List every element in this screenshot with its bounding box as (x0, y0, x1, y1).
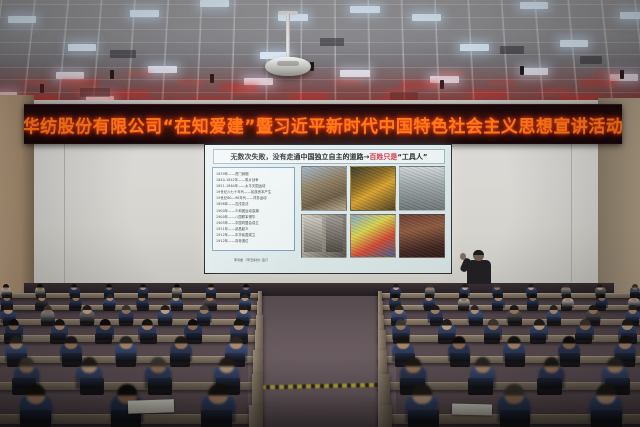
audience-head (452, 336, 465, 349)
slide-photo-4-portrait (304, 218, 322, 253)
desk-paper (452, 403, 492, 415)
audience-head (607, 357, 623, 373)
audience-head (243, 284, 249, 290)
presenter (466, 250, 492, 284)
audience-member (538, 357, 565, 389)
slide-photo-5 (350, 214, 396, 259)
audience-head (563, 336, 576, 349)
audience-head (54, 319, 65, 330)
ceiling-light-panel (130, 10, 159, 17)
audience-member (561, 294, 573, 308)
audience-head (161, 305, 170, 314)
audience-member (530, 319, 548, 340)
audience-head (563, 284, 569, 290)
audience-head (120, 336, 133, 349)
slide-timeline-item: 1912年——清帝退位 (216, 238, 292, 244)
ceiling (0, 0, 640, 108)
audience-member (170, 336, 192, 362)
audience-head (393, 284, 399, 290)
presenter-body (467, 260, 491, 284)
projection-screen: 无数次失败，没有走通中国独立自主的道路→ 百姓只是 “工具人” 1839年——虎… (205, 145, 451, 273)
audience-member (138, 319, 156, 340)
audience-head (549, 305, 558, 314)
audience-member (492, 294, 504, 308)
audience-head (122, 305, 131, 314)
audience-member (467, 305, 482, 322)
ceiling-grid-line-h (0, 54, 640, 55)
audience-head (394, 305, 403, 314)
ceiling-light-panel (68, 44, 96, 51)
ceiling-grid-line-h (0, 29, 640, 30)
presenter-hair (473, 250, 484, 255)
audience-member (158, 305, 173, 322)
audience-head (65, 336, 78, 349)
slide-photo-caption: 李鸿章 《辛丑条约》签订 (222, 258, 280, 262)
audience-head (628, 305, 637, 314)
audience-head (462, 284, 468, 290)
slide-timeline-list: 1839年——虎门销烟1840-1842年——鸦片战争1851-1864年——太… (212, 167, 295, 251)
audience-head (100, 319, 111, 330)
audience-head (618, 336, 631, 349)
audience-member (76, 357, 103, 389)
led-banner: 华纺股份有限公司“在知爱建”暨习近平新时代中国特色社会主义思想宣讲活动 (24, 104, 622, 144)
ceiling-vent (500, 46, 524, 54)
audience-head (504, 384, 524, 404)
ceiling-light-panel (278, 14, 308, 21)
audience-head (43, 305, 52, 314)
audience-member (497, 384, 531, 423)
audience-member (469, 357, 496, 389)
audience-head (406, 357, 422, 373)
presenter-hand (460, 253, 466, 260)
desk-end-panel (252, 374, 264, 406)
desk-end-panel (378, 350, 387, 376)
audience-head (200, 305, 209, 314)
audience-member (484, 319, 502, 340)
audience-head (150, 357, 166, 373)
audience-head (528, 284, 534, 290)
ceiling-light-panel (200, 0, 229, 7)
desk-end-panel (255, 330, 263, 351)
audience-member (79, 305, 94, 322)
audience-head (494, 284, 500, 290)
audience-head (597, 384, 617, 404)
audience-head (230, 336, 243, 349)
audience-head (8, 319, 19, 330)
audience-member (96, 319, 114, 340)
audience-head (427, 284, 433, 290)
audience-head (209, 384, 229, 404)
audience-head (188, 319, 199, 330)
audience-member (135, 294, 147, 308)
wall-seam-right (571, 142, 572, 282)
slide-photo-4 (301, 214, 347, 259)
audience-head (508, 336, 521, 349)
audience-head (544, 357, 560, 373)
audience-head (431, 305, 440, 314)
banner-text: 华纺股份有限公司“在知爱建”暨习近平新时代中国特色社会主义思想宣讲活动 (24, 105, 622, 143)
audience-head (632, 284, 638, 290)
audience-member (503, 336, 525, 362)
audience-head (175, 336, 188, 349)
ceiling-vent (110, 50, 136, 58)
slide-photo-3 (399, 166, 445, 211)
audience-member (104, 294, 116, 308)
center-aisle (248, 296, 396, 427)
audience-member (589, 384, 623, 423)
audience-member (527, 294, 539, 308)
audience-head (219, 357, 235, 373)
desk-end-panel (253, 350, 262, 376)
desk-end-panel (249, 405, 263, 427)
slide-title-part1: 无数次失败，没有走通中国独立自主的道路→ (230, 152, 369, 162)
wall-seam-left (64, 142, 65, 292)
audience-head (622, 319, 633, 330)
desk-end-panel (378, 374, 390, 406)
audience-head (106, 284, 112, 290)
audience-head (488, 319, 499, 330)
audience-head (26, 384, 46, 404)
slide-photo-grid (301, 166, 445, 258)
audience-head (19, 357, 35, 373)
audience-member (144, 357, 171, 389)
audience-head (510, 305, 519, 314)
audience-head (442, 319, 453, 330)
desk-end-panel (378, 405, 392, 427)
slide-title-part3: “工具人” (397, 152, 427, 162)
audience-head (396, 319, 407, 330)
audience-head (412, 384, 432, 404)
audience-head (397, 336, 410, 349)
audience-head (81, 357, 97, 373)
audience-member (115, 336, 137, 362)
slide-photo-6 (399, 214, 445, 259)
ceiling-light-panel (412, 14, 441, 21)
audience-head (233, 319, 244, 330)
audience-head (10, 336, 23, 349)
audience-head (3, 284, 9, 290)
audience-head (140, 284, 146, 290)
audience-member (202, 384, 236, 423)
audience-head (534, 319, 545, 330)
ceiling-light-panel (8, 16, 36, 23)
ceiling-light-panel (620, 12, 640, 19)
ceiling-grid-line-h (0, 17, 640, 18)
audience-head (589, 305, 598, 314)
audience-head (580, 319, 591, 330)
audience-member (507, 305, 522, 322)
ceiling-light-panel (560, 40, 588, 47)
audience-member (405, 384, 439, 423)
slide-title: 无数次失败，没有走通中国独立自主的道路→ 百姓只是 “工具人” (213, 149, 445, 164)
audience-member (19, 384, 53, 423)
audience-head (82, 305, 91, 314)
desk-paper (128, 399, 174, 414)
audience-head (71, 284, 77, 290)
ceiling-vent (320, 38, 344, 46)
ceiling-light-panel (460, 44, 489, 51)
lecture-hall-photo: 华纺股份有限公司“在知爱建”暨习近平新时代中国特色社会主义思想宣讲活动 无数次失… (0, 0, 640, 427)
ceiling-projector (265, 57, 311, 76)
audience-head (470, 305, 479, 314)
audience-head (4, 305, 13, 314)
audience-member (546, 305, 561, 322)
desk-end-panel (378, 330, 386, 351)
slide-photo-1 (301, 166, 347, 211)
audience-head (174, 284, 180, 290)
audience-head (239, 305, 248, 314)
ceiling-light-panel (520, 2, 548, 9)
projector-pole (286, 14, 290, 60)
ceiling-light-panel (350, 6, 380, 13)
slide-photo-4-document (326, 218, 343, 253)
slide-title-part2: 百姓只是 (369, 152, 397, 162)
audience-head (142, 319, 153, 330)
audience-head (208, 284, 214, 290)
audience-member (448, 336, 470, 362)
slide-photo-2 (350, 166, 396, 211)
audience-head (475, 357, 491, 373)
audience-member (118, 305, 133, 322)
audience-head (37, 284, 43, 290)
audience-head (597, 284, 603, 290)
